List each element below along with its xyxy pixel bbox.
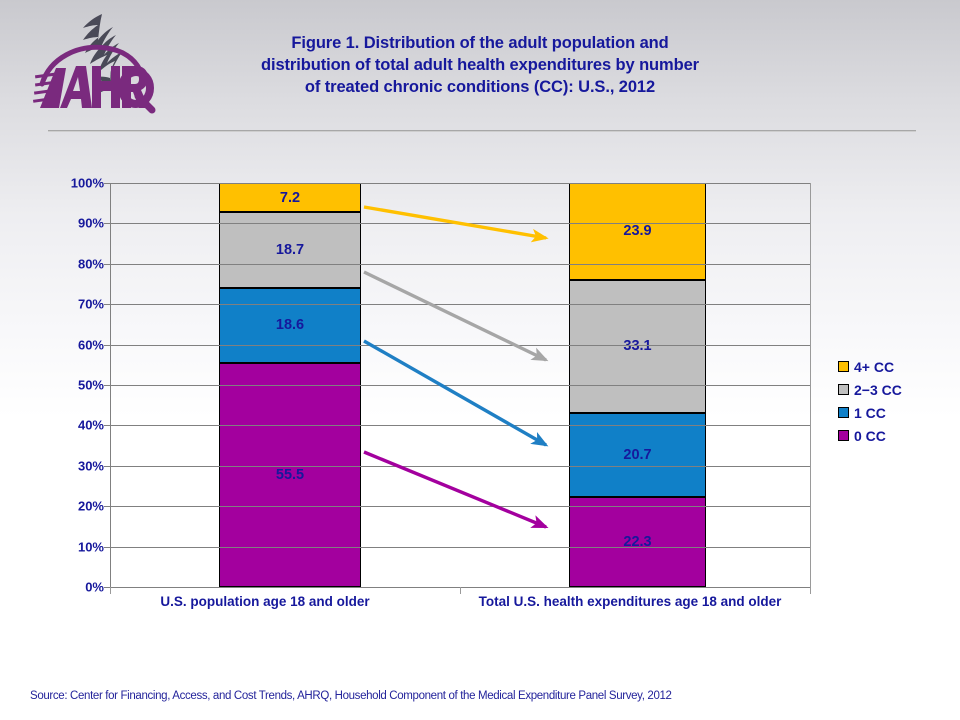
y-tick-mark (104, 183, 111, 184)
legend-item-2-3-cc[interactable]: 2−3 CC (838, 378, 902, 401)
y-tick-mark (104, 304, 111, 305)
bar-segment-total-expenditures-4+-cc: 23.9 (569, 183, 706, 280)
title-line-3: of treated chronic conditions (CC): U.S.… (210, 76, 750, 98)
legend-swatch-icon (838, 384, 849, 395)
legend-label: 2−3 CC (854, 382, 902, 398)
slide-canvas: Figure 1. Distribution of the adult popu… (0, 0, 960, 720)
bar-segment-value: 33.1 (623, 338, 651, 354)
legend-item-1-cc[interactable]: 1 CC (838, 401, 902, 424)
y-tick-label: 80% (38, 256, 104, 271)
header-divider (48, 130, 916, 132)
bar-segment-value: 7.2 (280, 190, 300, 206)
bar-segment-value: 20.7 (623, 447, 651, 463)
y-tick-mark (104, 466, 111, 467)
legend-label: 4+ CC (854, 359, 894, 375)
y-tick-label: 10% (38, 539, 104, 554)
source-note: Source: Center for Financing, Access, an… (30, 690, 930, 702)
legend-item-0-cc[interactable]: 0 CC (838, 424, 902, 447)
y-tick-label: 90% (38, 216, 104, 231)
y-tick-mark (104, 264, 111, 265)
gridline (111, 547, 811, 548)
gridline (111, 385, 811, 386)
bar-segment-value: 23.9 (623, 223, 651, 239)
bar-segment-us-population-0-cc: 55.5 (219, 363, 361, 587)
x-tick-mark (110, 587, 111, 594)
y-tick-mark (104, 385, 111, 386)
gridline (111, 223, 811, 224)
gridline (111, 466, 811, 467)
x-tick-mark (460, 587, 461, 594)
y-tick-label: 40% (38, 418, 104, 433)
bar-segment-value: 18.7 (276, 242, 304, 258)
page-title: Figure 1. Distribution of the adult popu… (210, 32, 750, 98)
gridline (111, 183, 811, 184)
y-tick-label: 30% (38, 458, 104, 473)
bar-segment-total-expenditures-2-3-cc: 33.1 (569, 280, 706, 414)
y-tick-label: 70% (38, 297, 104, 312)
x-axis-label-0: U.S. population age 18 and older (120, 594, 410, 611)
y-tick-mark (104, 547, 111, 548)
legend-swatch-icon (838, 361, 849, 372)
y-tick-label: 100% (38, 176, 104, 191)
bar-segment-total-expenditures-0-cc: 22.3 (569, 497, 706, 587)
legend-swatch-icon (838, 430, 849, 441)
gridline (111, 345, 811, 346)
y-tick-label: 20% (38, 499, 104, 514)
gridline (111, 304, 811, 305)
legend-label: 0 CC (854, 428, 886, 444)
plot-right-border (810, 183, 811, 587)
title-line-1: Figure 1. Distribution of the adult popu… (210, 32, 750, 54)
legend-item-4+-cc[interactable]: 4+ CC (838, 355, 902, 378)
y-tick-mark (104, 425, 111, 426)
gridline (111, 587, 811, 588)
y-tick-mark (104, 223, 111, 224)
y-axis: 100%90%80%70%60%50%40%30%20%10%0% (38, 183, 104, 587)
legend-swatch-icon (838, 407, 849, 418)
x-axis-label-1: Total U.S. health expenditures age 18 an… (460, 594, 800, 611)
gridline (111, 425, 811, 426)
gridline (111, 506, 811, 507)
y-tick-label: 50% (38, 378, 104, 393)
bar-segment-value: 18.6 (276, 317, 304, 333)
bar-segment-us-population-1-cc: 18.6 (219, 288, 361, 363)
y-tick-mark (104, 506, 111, 507)
bar-segment-value: 55.5 (276, 467, 304, 483)
ahrq-logo (26, 8, 156, 116)
chart-plot-area: 55.518.618.77.2 22.320.733.123.9 (110, 183, 810, 587)
y-tick-label: 0% (38, 580, 104, 595)
chart-legend: 4+ CC2−3 CC1 CC0 CC (838, 355, 902, 447)
bar-segment-us-population-4+-cc: 7.2 (219, 183, 361, 212)
legend-label: 1 CC (854, 405, 886, 421)
y-tick-mark (104, 345, 111, 346)
y-tick-label: 60% (38, 337, 104, 352)
title-line-2: distribution of total adult health expen… (210, 54, 750, 76)
gridline (111, 264, 811, 265)
x-tick-mark (810, 587, 811, 594)
